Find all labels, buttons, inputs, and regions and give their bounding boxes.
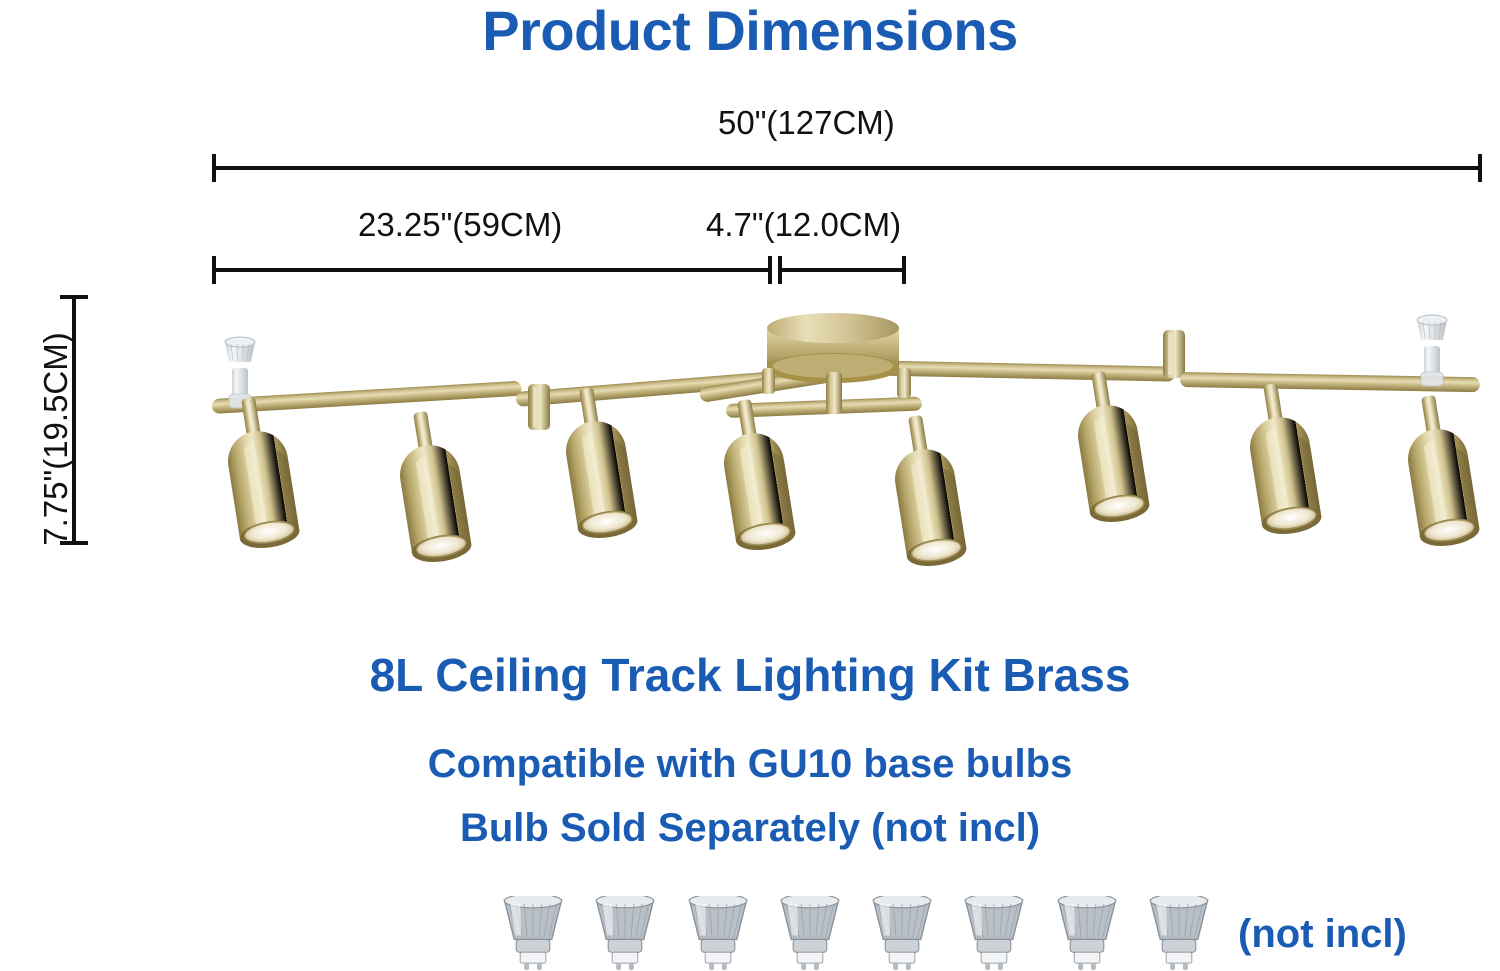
gu10-bulb-icon xyxy=(588,896,662,971)
track-arm-right-outer xyxy=(1180,372,1480,392)
spot-head-3 xyxy=(556,383,639,542)
arm-span-tick-right xyxy=(768,256,772,284)
track-end-cap-right xyxy=(1417,315,1447,386)
compatibility-note: Compatible with GU10 base bulbs xyxy=(0,742,1500,787)
overall-width-rule xyxy=(212,166,1482,170)
product-headline: 8L Ceiling Track Lighting Kit Brass xyxy=(0,648,1500,702)
spot-head-4 xyxy=(714,395,797,554)
arm-span-tick-left xyxy=(212,256,216,284)
arm-span-label: 23.25"(59CM) xyxy=(358,206,562,244)
segment-rule xyxy=(778,268,906,272)
segment-tick-left xyxy=(778,256,782,284)
gu10-bulb-row xyxy=(496,896,1216,971)
bulb-sold-separately-note: Bulb Sold Separately (not incl) xyxy=(0,806,1500,851)
spot-head-7 xyxy=(1240,379,1323,538)
track-arm-left-inner xyxy=(515,366,845,407)
track-arm-center-left xyxy=(699,365,849,403)
segment-length-label: 4.7"(12.0CM) xyxy=(706,206,901,244)
arm-span-rule xyxy=(212,268,772,272)
gu10-bulb-icon xyxy=(957,896,1031,971)
track-arm-left-outer xyxy=(212,381,522,414)
height-rule xyxy=(72,295,76,545)
track-end-cap-left xyxy=(225,337,255,408)
not-included-note: (not incl) xyxy=(1238,912,1407,957)
height-tick-top xyxy=(60,295,88,299)
gu10-bulb-icon xyxy=(773,896,847,971)
ceiling-canopy xyxy=(762,313,911,414)
spot-head-2 xyxy=(390,407,473,566)
overall-width-tick-left xyxy=(212,154,216,182)
gu10-bulb-icon xyxy=(1050,896,1124,971)
track-arm-connector xyxy=(726,396,922,418)
spot-head-6 xyxy=(1068,367,1151,526)
overall-width-label: 50"(127CM) xyxy=(718,104,895,142)
spot-head-1 xyxy=(218,393,301,552)
height-tick-bottom xyxy=(60,541,88,545)
track-joint-left xyxy=(528,384,550,430)
gu10-bulb-icon xyxy=(681,896,755,971)
gu10-bulb-icon xyxy=(865,896,939,971)
segment-tick-right xyxy=(902,256,906,284)
track-joint-right xyxy=(1163,330,1185,378)
track-arm-center-right xyxy=(855,360,1175,382)
overall-width-tick-right xyxy=(1478,154,1482,182)
spot-head-5 xyxy=(885,411,968,570)
spot-head-8 xyxy=(1398,391,1481,550)
gu10-bulb-icon xyxy=(1142,896,1216,971)
gu10-bulb-icon xyxy=(496,896,570,971)
page-title: Product Dimensions xyxy=(0,2,1500,61)
